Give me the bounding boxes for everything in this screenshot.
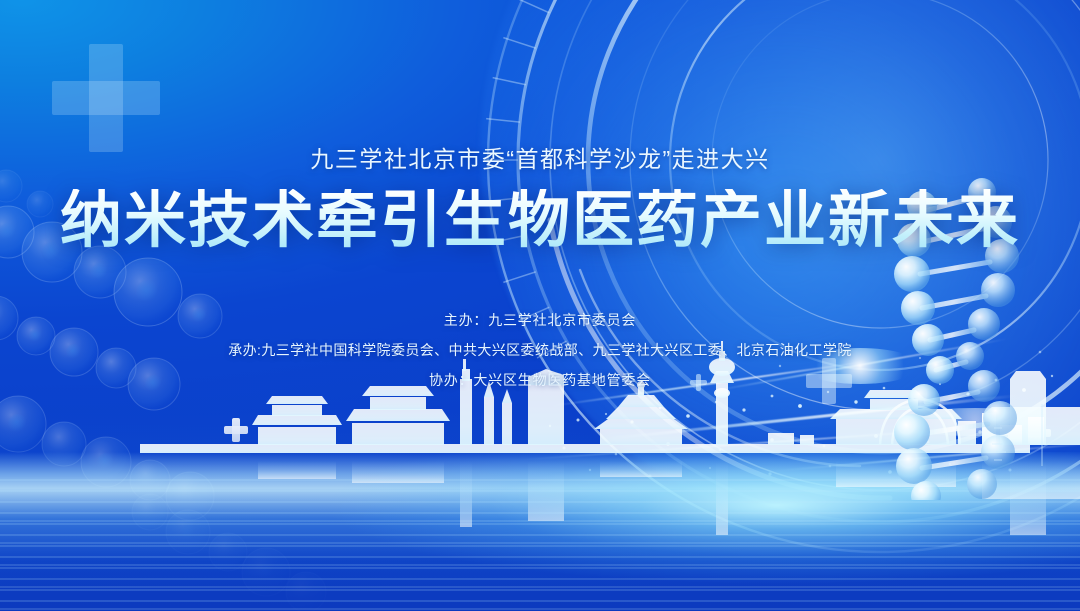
event-banner: 九三学社北京市委“首都科学沙龙”走进大兴 纳米技术牵引生物医药产业新未来 主办：… bbox=[0, 0, 1080, 611]
water-reflection-lines-sparse bbox=[0, 500, 1080, 611]
organizer-undertaker: 承办:九三学社中国科学院委员会、中共大兴区委统战部、九三学社大兴区工委、北京石油… bbox=[0, 343, 1080, 357]
organizer-host: 主办：九三学社北京市委员会 bbox=[0, 313, 1080, 327]
banner-text-block: 九三学社北京市委“首都科学沙龙”走进大兴 纳米技术牵引生物医药产业新未来 主办：… bbox=[0, 148, 1080, 387]
organizer-coorganizer: 协办：大兴区生物医药基地管委会 bbox=[0, 373, 1080, 387]
organizer-list: 主办：九三学社北京市委员会 承办:九三学社中国科学院委员会、中共大兴区委统战部、… bbox=[0, 313, 1080, 387]
banner-subtitle: 九三学社北京市委“首都科学沙龙”走进大兴 bbox=[0, 148, 1080, 171]
tech-bars-decoration bbox=[982, 400, 1052, 470]
banner-main-title: 纳米技术牵引生物医药产业新未来 bbox=[0, 189, 1080, 251]
medical-cross-icon-large bbox=[52, 44, 160, 152]
